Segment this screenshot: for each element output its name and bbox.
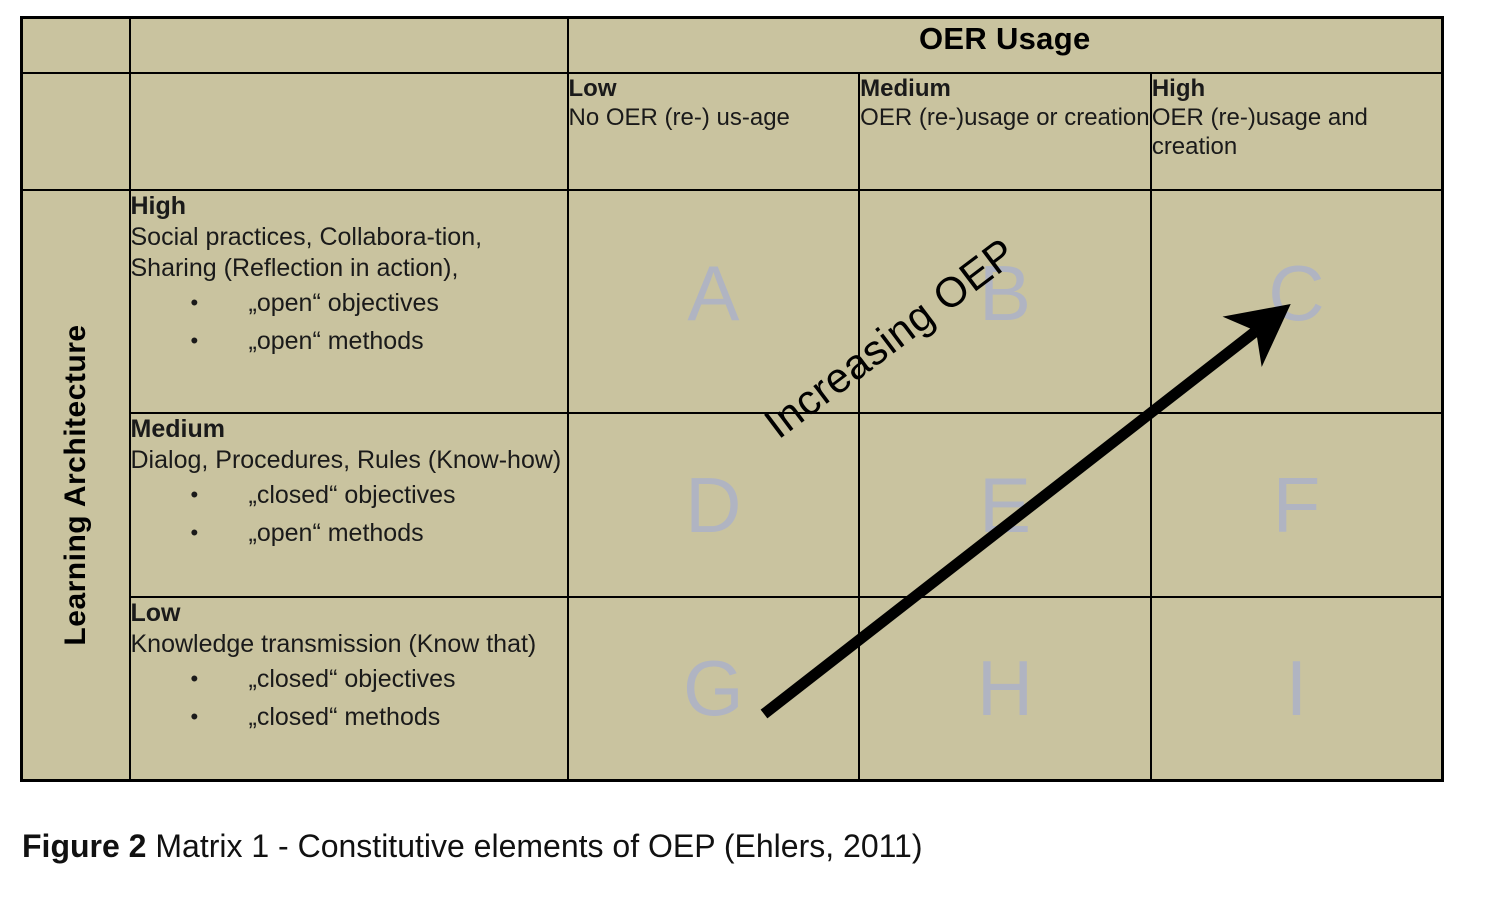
column-header-medium-desc: OER (re-)usage or creation — [860, 103, 1150, 132]
row-header-high-title: High — [131, 191, 567, 222]
column-header-low: Low No OER (re-) us-age — [568, 73, 860, 189]
matrix-cell-letter: E — [979, 466, 1031, 544]
row-header-high-desc: Social practices, Collabora-tion, Sharin… — [131, 222, 567, 284]
column-header-medium: Medium OER (re-)usage or creation — [859, 73, 1151, 189]
figure-container: OER Usage Low No OER (re-) us-age Medium… — [0, 0, 1488, 904]
oep-matrix-table: OER Usage Low No OER (re-) us-age Medium… — [20, 16, 1444, 782]
column-header-high-title: High — [1152, 74, 1441, 103]
list-item: „closed“ objectives — [131, 476, 567, 514]
list-item: „closed“ methods — [131, 698, 567, 736]
column-axis-title: OER Usage — [568, 18, 1443, 74]
row-header-medium-desc: Dialog, Procedures, Rules (Know-how) — [131, 445, 567, 476]
matrix-cell-letter: G — [683, 649, 744, 727]
header-blank-rowdesc — [130, 18, 568, 74]
list-item: „closed“ objectives — [131, 660, 567, 698]
matrix-cell-e: E — [859, 413, 1151, 596]
row-header-low-desc: Knowledge transmission (Know that) — [131, 629, 567, 660]
list-item: „open“ methods — [131, 514, 567, 552]
row-header-medium: Medium Dialog, Procedures, Rules (Know-h… — [130, 413, 568, 596]
row-header-low-bullets: „closed“ objectives „closed“ methods — [131, 660, 567, 736]
row-axis-title-cell: Learning Architecture — [22, 190, 130, 781]
matrix-cell-i: I — [1151, 597, 1443, 781]
figure-caption-label: Figure 2 — [22, 828, 146, 864]
table-row: Medium Dialog, Procedures, Rules (Know-h… — [22, 413, 1443, 596]
row-header-high-bullets: „open“ objectives „open“ methods — [131, 284, 567, 360]
row-header-low-title: Low — [131, 598, 567, 629]
row-header-medium-title: Medium — [131, 414, 567, 445]
table-header-row-title: OER Usage — [22, 18, 1443, 74]
row-header-low: Low Knowledge transmission (Know that) „… — [130, 597, 568, 781]
matrix-cell-c: C — [1151, 190, 1443, 414]
column-header-low-title: Low — [569, 74, 859, 103]
row-axis-title: Learning Architecture — [59, 324, 93, 645]
header-blank-rowdesc-2 — [130, 73, 568, 189]
table-row: Low Knowledge transmission (Know that) „… — [22, 597, 1443, 781]
column-header-high: High OER (re-)usage and creation — [1151, 73, 1443, 189]
matrix-cell-letter: A — [687, 254, 739, 332]
matrix-cell-letter: I — [1286, 649, 1308, 727]
row-header-high: High Social practices, Collabora-tion, S… — [130, 190, 568, 414]
matrix-cell-letter: C — [1268, 254, 1324, 332]
matrix-cell-letter: F — [1273, 466, 1321, 544]
matrix-cell-letter: D — [685, 466, 741, 544]
list-item: „open“ objectives — [131, 284, 567, 322]
matrix-cell-h: H — [859, 597, 1151, 781]
matrix-cell-f: F — [1151, 413, 1443, 596]
table-header-row-columns: Low No OER (re-) us-age Medium OER (re-)… — [22, 73, 1443, 189]
matrix-cell-d: D — [568, 413, 860, 596]
header-blank-axis-2 — [22, 73, 130, 189]
figure-caption: Figure 2 Matrix 1 - Constitutive element… — [22, 824, 922, 868]
figure-caption-text: Matrix 1 - Constitutive elements of OEP … — [155, 828, 922, 864]
list-item: „open“ methods — [131, 322, 567, 360]
header-blank-axis — [22, 18, 130, 74]
column-header-low-desc: No OER (re-) us-age — [569, 103, 859, 132]
matrix-cell-letter: H — [977, 649, 1033, 727]
table-row: Learning Architecture High Social practi… — [22, 190, 1443, 414]
column-header-high-desc: OER (re-)usage and creation — [1152, 103, 1441, 161]
column-header-medium-title: Medium — [860, 74, 1150, 103]
row-header-medium-bullets: „closed“ objectives „open“ methods — [131, 476, 567, 552]
matrix-cell-g: G — [568, 597, 860, 781]
